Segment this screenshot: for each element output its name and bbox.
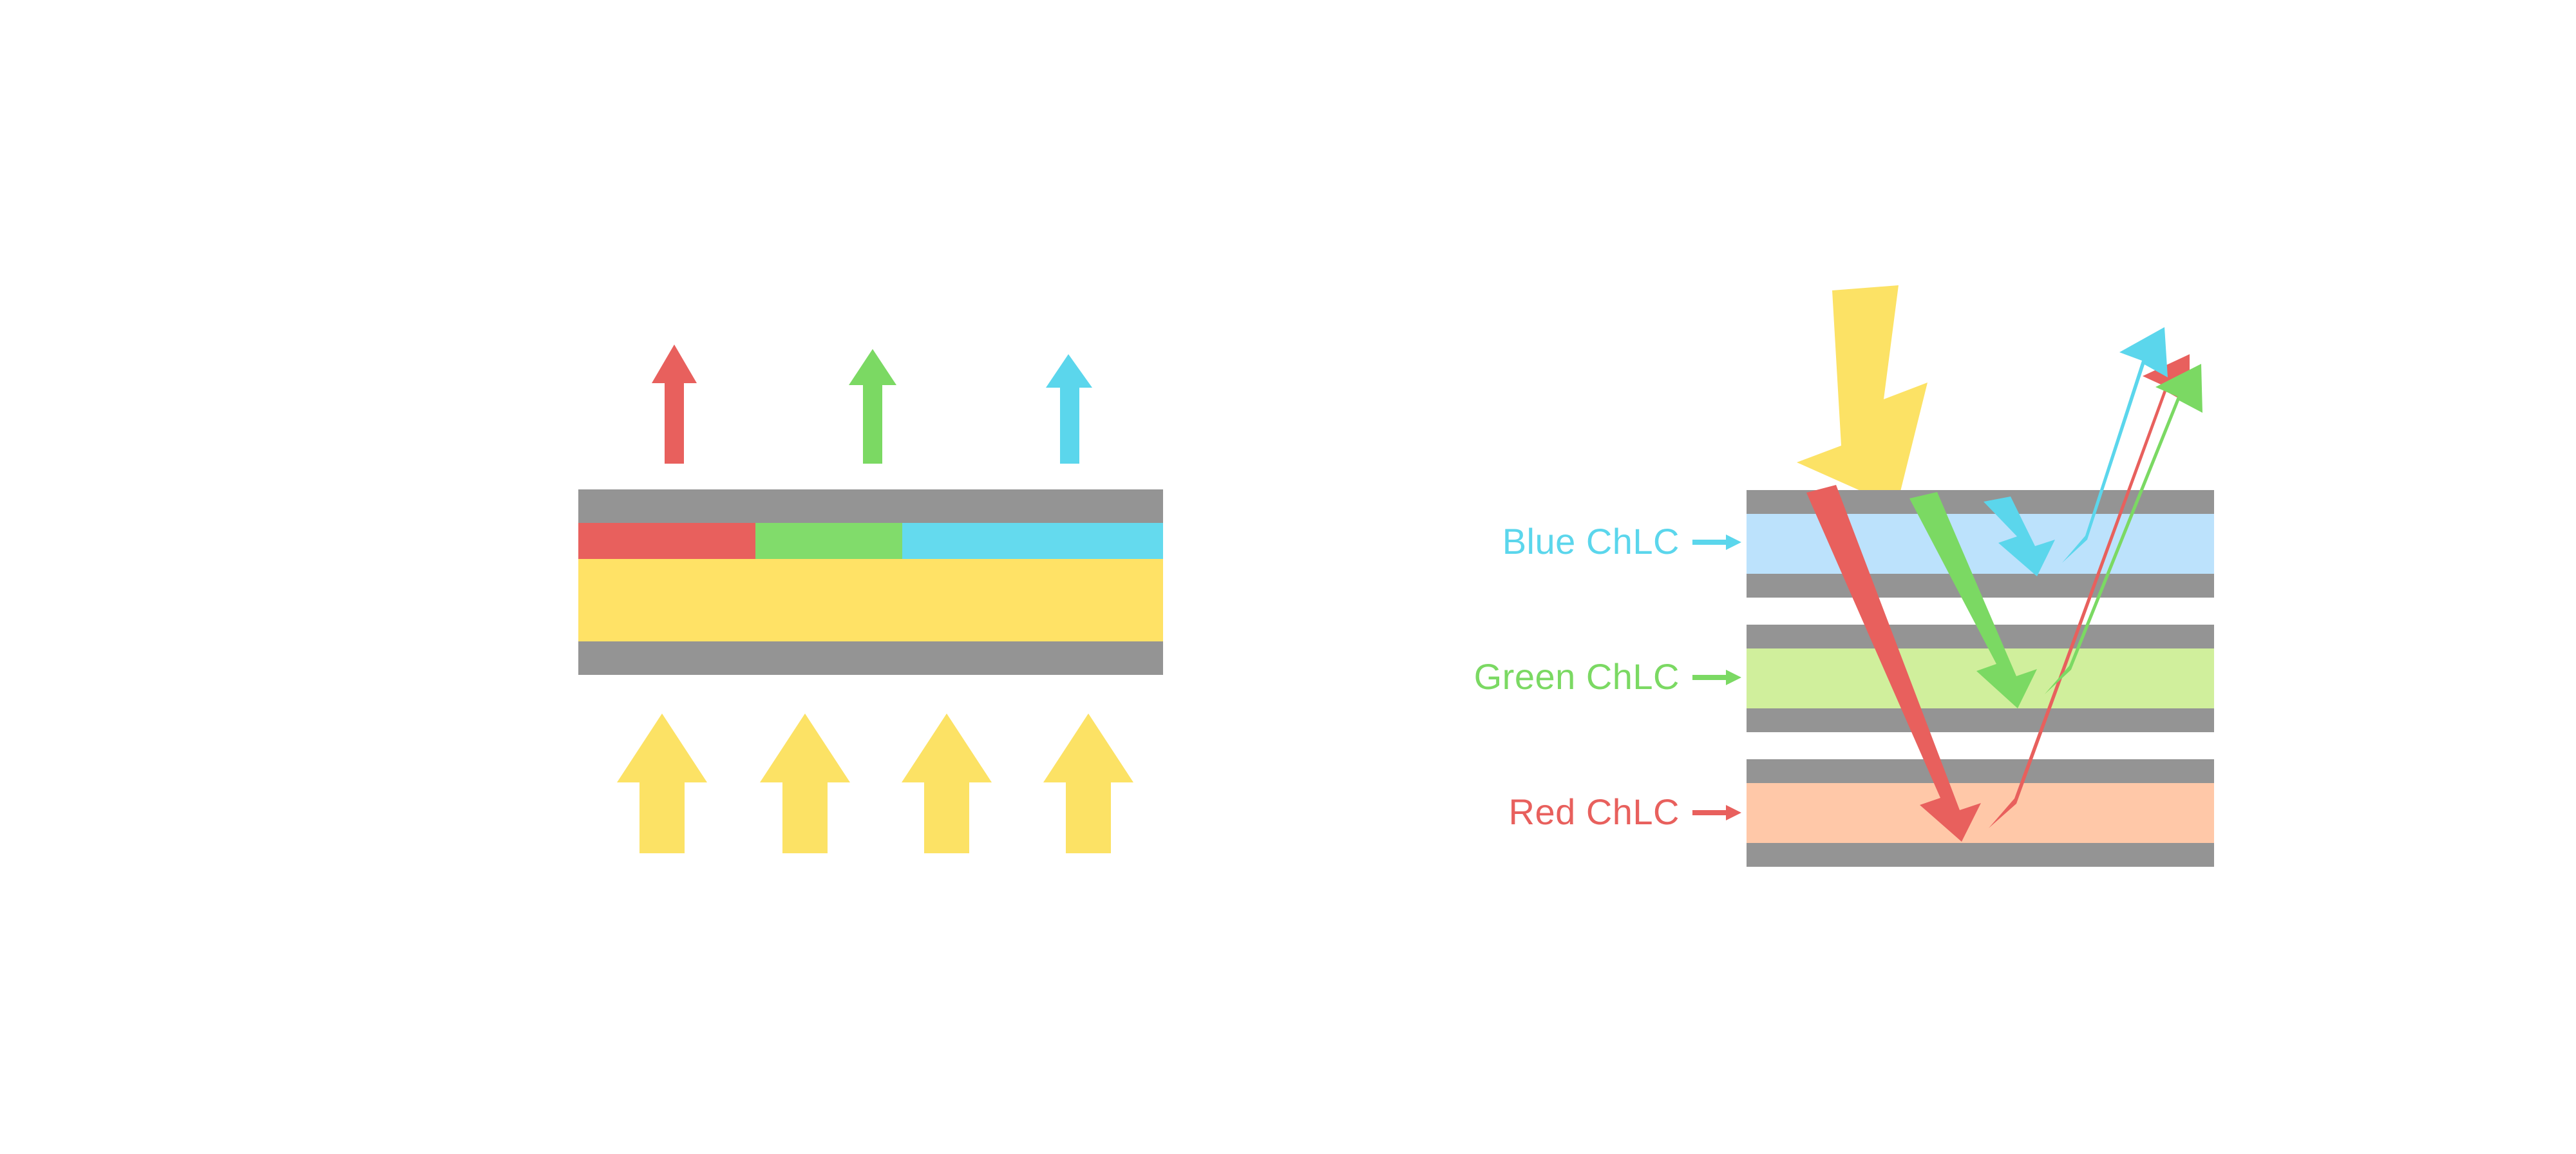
red-cell-top-electrode xyxy=(1747,759,2214,783)
blue-emitted-arrow xyxy=(1046,354,1092,464)
yellow-backlight-arrow-2 xyxy=(760,714,850,853)
blue-label-arrow-icon xyxy=(1692,534,1741,550)
red-emitted-arrow xyxy=(652,345,697,464)
green-chlc-label-group: Green ChLC xyxy=(1474,656,1741,697)
left-yellow-backlight-layer xyxy=(578,559,1163,641)
left-bottom-electrode xyxy=(578,641,1163,675)
left-backlight-arrows xyxy=(617,714,1133,853)
green-chlc-label: Green ChLC xyxy=(1474,656,1680,697)
chlc-diagram-svg: Blue ChLC Green ChLC Red ChLC xyxy=(0,0,2576,1154)
blue-chlc-label: Blue ChLC xyxy=(1502,521,1680,562)
left-red-segment xyxy=(578,523,755,559)
red-chlc-label-group: Red ChLC xyxy=(1509,791,1741,832)
red-chlc-cell xyxy=(1747,759,2214,867)
left-emitted-arrows xyxy=(652,345,1092,464)
left-panel-group xyxy=(578,345,1163,853)
diagram-canvas: Blue ChLC Green ChLC Red ChLC xyxy=(0,0,2576,1154)
green-chlc-cell xyxy=(1747,625,2214,732)
red-label-arrow-icon xyxy=(1692,805,1741,820)
green-label-arrow-icon xyxy=(1692,670,1741,685)
green-chlc-layer xyxy=(1747,648,2214,708)
green-emitted-arrow xyxy=(849,349,896,464)
incident-white-light-arrow xyxy=(1797,285,1927,507)
left-top-electrode xyxy=(578,489,1163,523)
yellow-backlight-arrow-4 xyxy=(1043,714,1133,853)
blue-chlc-layer xyxy=(1747,514,2214,574)
yellow-backlight-arrow-1 xyxy=(617,714,707,853)
green-cell-bottom-electrode xyxy=(1747,708,2214,732)
red-chlc-layer xyxy=(1747,783,2214,843)
left-blue-segment xyxy=(902,523,1163,559)
red-cell-bottom-electrode xyxy=(1747,843,2214,867)
left-green-segment xyxy=(755,523,902,559)
left-stack xyxy=(578,489,1163,675)
blue-chlc-label-group: Blue ChLC xyxy=(1502,521,1741,562)
red-chlc-label: Red ChLC xyxy=(1509,791,1680,832)
right-panel-group: Blue ChLC Green ChLC Red ChLC xyxy=(1474,285,2214,867)
yellow-backlight-arrow-3 xyxy=(902,714,992,853)
